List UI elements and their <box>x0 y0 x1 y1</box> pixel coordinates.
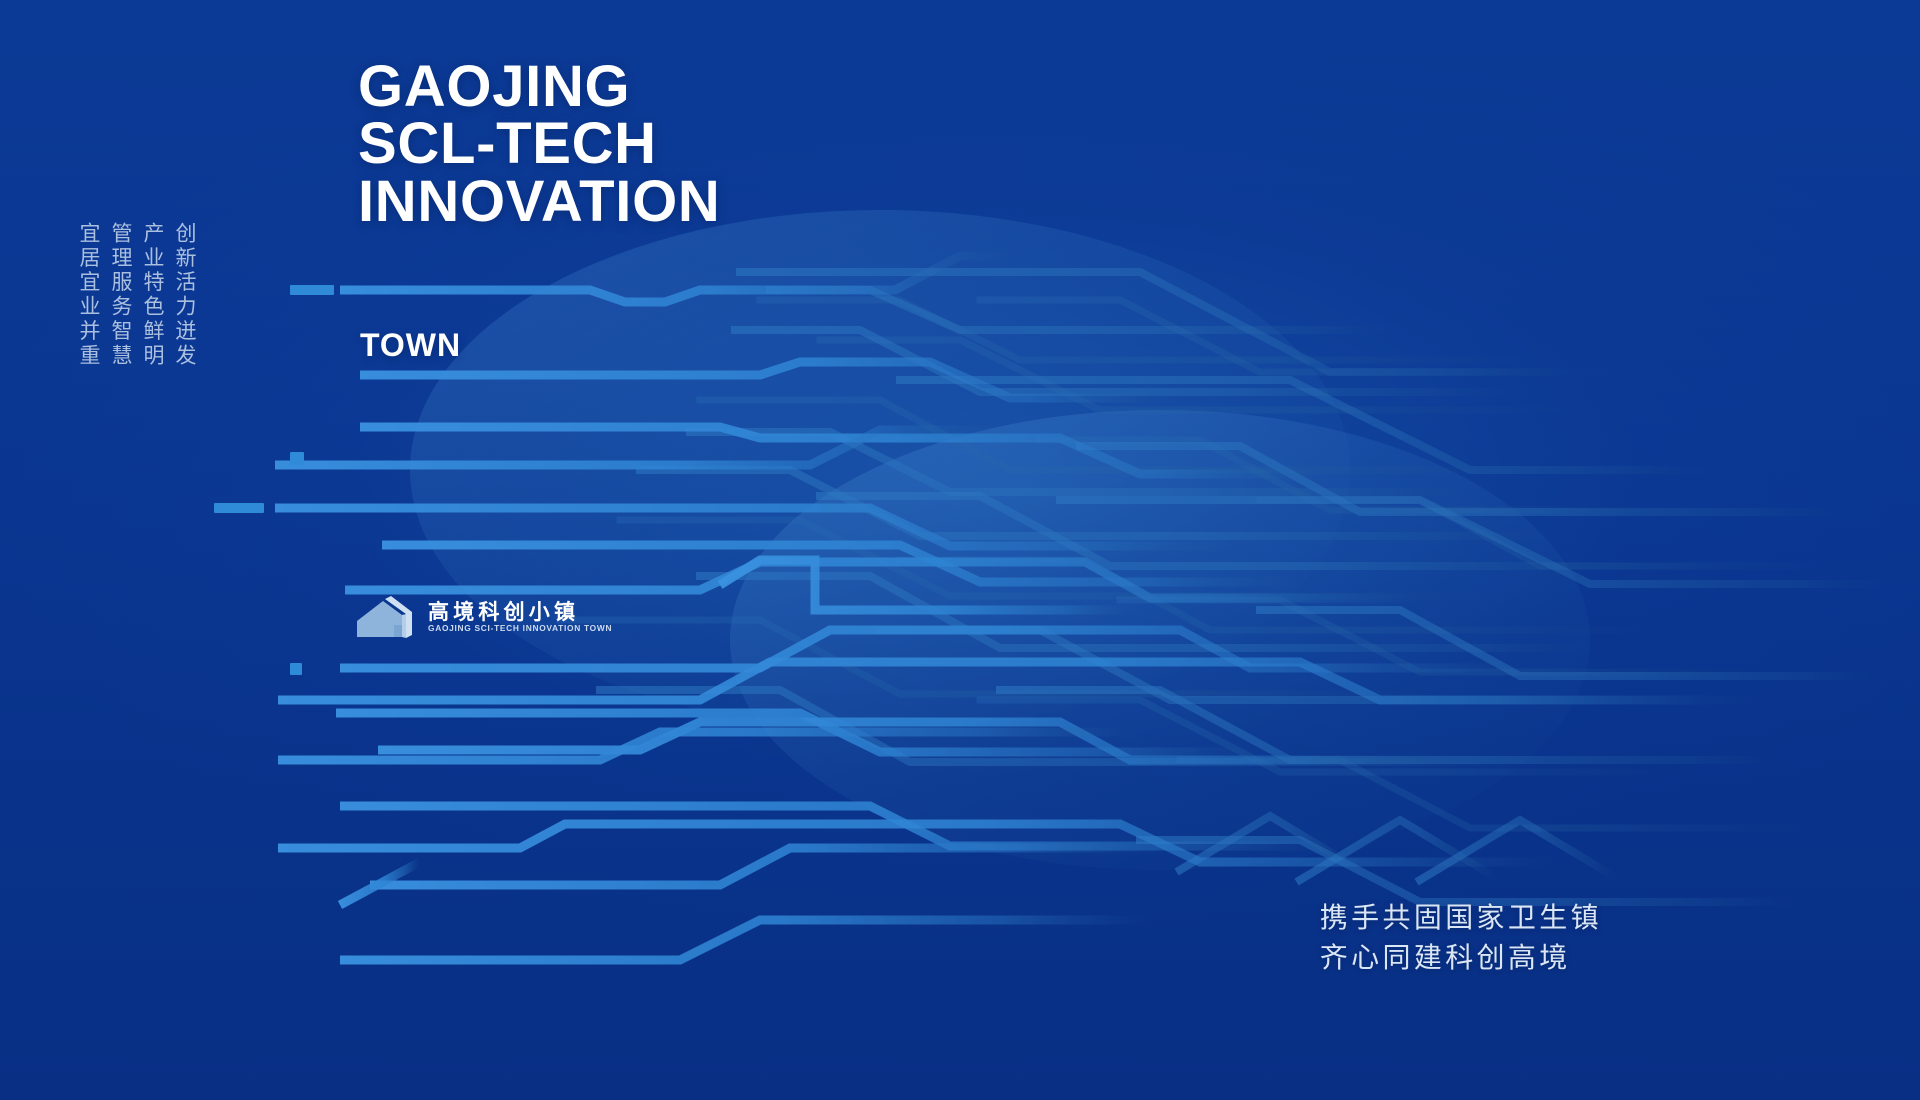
brand-logo: 高境科创小镇 GAOJING SCI-TECH INNOVATION TOWN <box>355 595 609 641</box>
poster-canvas: 创新活力迸发 产业特色鲜明 管理服务智慧 宜居宜业并重 GAOJING SCL-… <box>0 0 1920 1100</box>
vertical-slogan-1: 产业特色鲜明 <box>142 222 163 368</box>
vertical-slogan-0: 创新活力迸发 <box>174 222 195 368</box>
logo-english-name: GAOJING SCI-TECH INNOVATION TOWN <box>428 625 612 633</box>
headline-subtitle: TOWN <box>360 327 461 364</box>
bottom-slogan-line-1: 携手共固国家卫生镇 <box>1320 898 1602 938</box>
page-title: GAOJING SCL-TECH INNOVATION <box>358 58 720 230</box>
headline-line-1: GAOJING <box>358 58 720 115</box>
logo-chinese-name: 高境科创小镇 <box>428 602 609 623</box>
headline-line-2: SCL-TECH <box>358 115 720 172</box>
house-building-icon <box>355 595 417 641</box>
vertical-slogan-group: 创新活力迸发 产业特色鲜明 管理服务智慧 宜居宜业并重 <box>78 222 195 368</box>
background-gradient <box>0 0 1920 1100</box>
vertical-slogan-2: 管理服务智慧 <box>110 222 131 368</box>
circuit-trace-pattern <box>0 0 1920 1100</box>
bottom-slogan-group: 携手共固国家卫生镇 齐心同建科创高境 <box>1320 898 1602 978</box>
logo-text-group: 高境科创小镇 GAOJING SCI-TECH INNOVATION TOWN <box>428 602 609 633</box>
vertical-slogan-3: 宜居宜业并重 <box>78 222 99 368</box>
bottom-slogan-line-2: 齐心同建科创高境 <box>1320 938 1602 978</box>
headline-line-3: INNOVATION <box>358 173 720 230</box>
